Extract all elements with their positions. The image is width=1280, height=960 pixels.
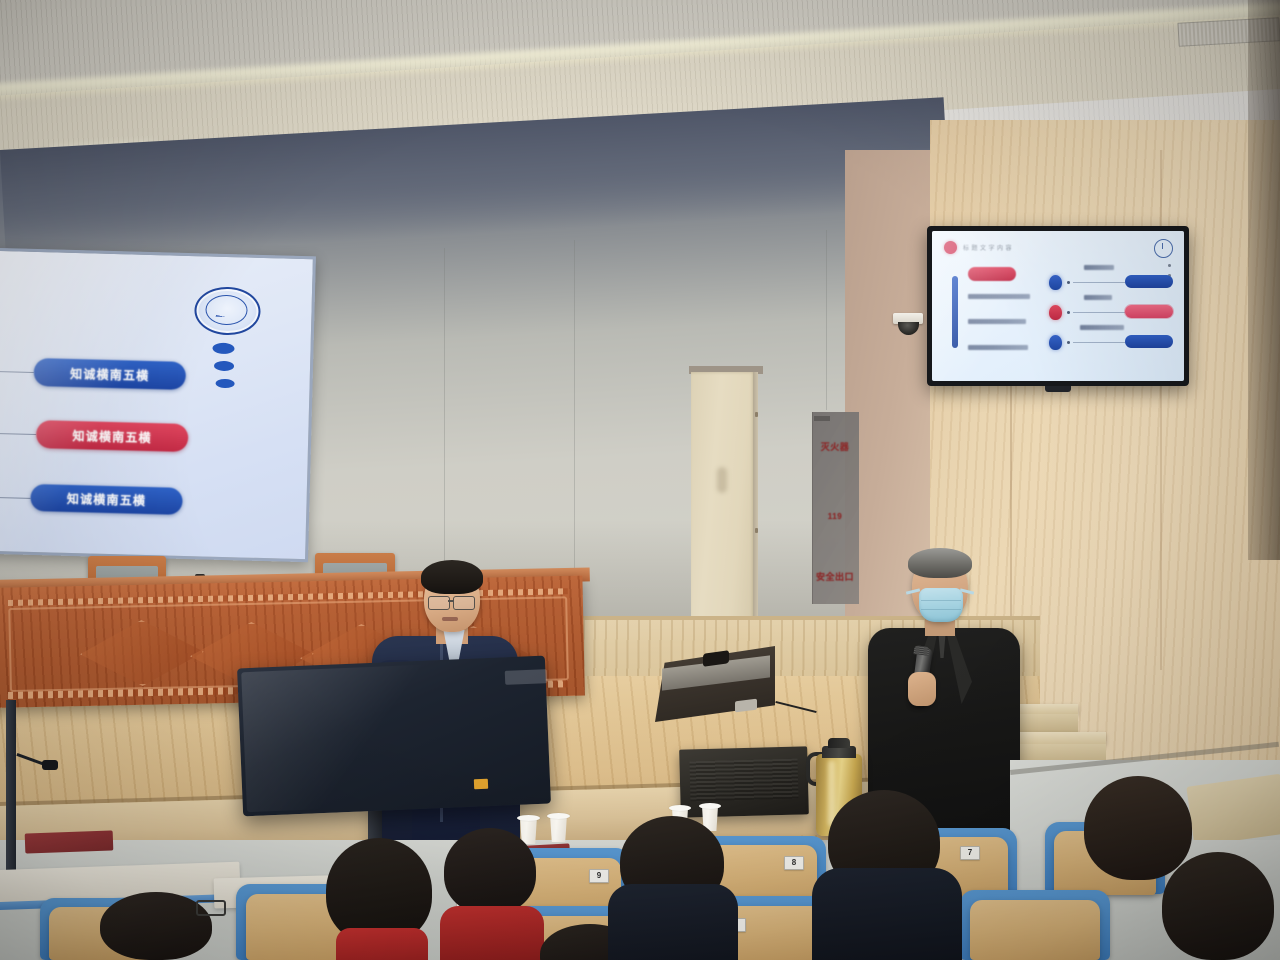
- step-tread: [1018, 704, 1078, 714]
- wall-mounted-display[interactable]: 标题文字内容: [927, 226, 1189, 386]
- door-hinge: [755, 412, 758, 417]
- monitor-glare: [241, 660, 547, 812]
- auditorium-photo: 知诚横南五横 知诚横南五横 知诚横南五横 标题文字内容: [0, 0, 1280, 960]
- audience-head: [1084, 776, 1192, 880]
- seat-number: 7: [960, 846, 980, 860]
- speaker-1-hair: [421, 560, 483, 594]
- sign-text-3: 安全出口: [812, 570, 858, 583]
- wooden-rail: [1186, 774, 1280, 847]
- speaker-2-hand: [908, 672, 936, 706]
- audience-clothing: [336, 928, 428, 960]
- seat-back: [970, 900, 1100, 960]
- audience-clothing: [608, 884, 738, 960]
- sign-text-code: 119: [812, 512, 858, 521]
- monitor-badge: [474, 779, 488, 790]
- audience-clothing: [812, 868, 962, 960]
- display-mount: [1045, 386, 1071, 392]
- sign-text-1: 灭火器: [812, 440, 858, 453]
- audience-head: [444, 828, 536, 914]
- step-tread: [1014, 732, 1106, 744]
- audience-head: [1162, 852, 1274, 960]
- door-hinge: [755, 528, 758, 533]
- mask-pleat: [921, 600, 961, 601]
- glasses-bridge: [448, 600, 454, 602]
- speaker-1-mouth: [442, 617, 458, 621]
- surgical-mask-icon: [919, 588, 963, 622]
- door-jamb: [753, 372, 758, 632]
- glasses-icon: [428, 596, 450, 610]
- sign-chip: [814, 416, 830, 421]
- speaker-2-hair: [908, 548, 972, 578]
- display-screen: 标题文字内容: [932, 231, 1184, 381]
- screen-glare: [932, 231, 1184, 381]
- microphone-head-icon: [42, 760, 58, 770]
- thermos-lid[interactable]: [828, 738, 850, 748]
- microphone-head-icon: [914, 645, 930, 656]
- speaker-grille: [689, 759, 798, 802]
- mask-pleat: [921, 609, 961, 610]
- wooden-door[interactable]: [691, 372, 755, 632]
- door-handle[interactable]: [717, 467, 727, 493]
- screen-glare: [0, 251, 313, 559]
- wall-seam: [826, 230, 827, 410]
- paper-cup-rim: [547, 813, 570, 819]
- right-wall-edge-shadow: [1248, 0, 1280, 560]
- paper-cup-rim: [699, 803, 721, 809]
- paper-cup-rim: [517, 815, 540, 821]
- mic-stand-pole: [6, 700, 16, 870]
- seat-number: 9: [589, 869, 609, 883]
- monitor-corner-highlight: [505, 669, 548, 685]
- glasses-icon: [453, 596, 475, 610]
- step-riser: [1018, 714, 1078, 732]
- red-folder[interactable]: [25, 830, 114, 853]
- seat-number: 8: [784, 856, 804, 870]
- projection-screen[interactable]: 知诚横南五横 知诚横南五横 知诚横南五横: [0, 248, 316, 562]
- glasses-icon: [196, 900, 226, 916]
- paper-cup-rim: [669, 805, 691, 811]
- audience-clothing: [440, 906, 544, 960]
